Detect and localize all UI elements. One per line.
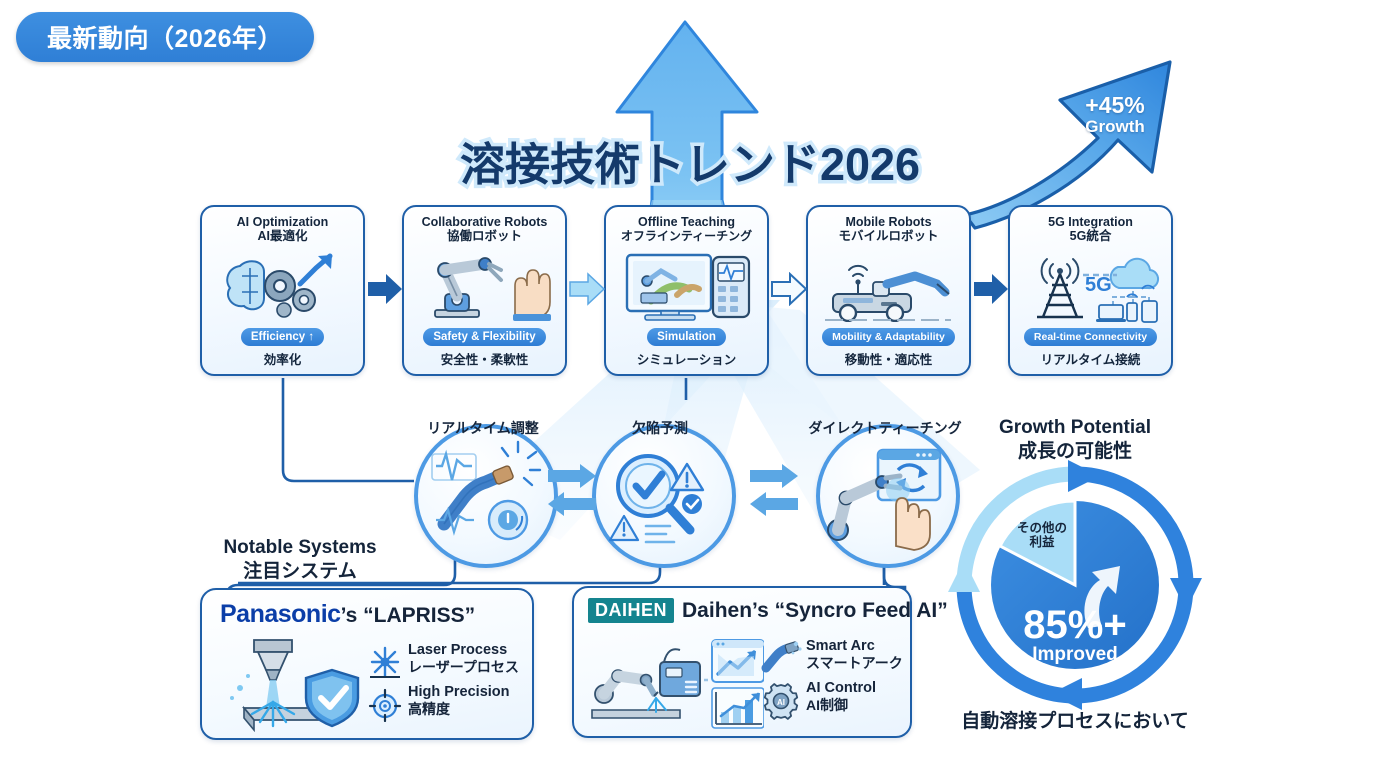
growth-arrow-value: +45% bbox=[1070, 92, 1160, 119]
card-caption: 安全性・柔軟性 bbox=[441, 349, 529, 368]
feature-title-jp: スマートアーク bbox=[806, 655, 903, 671]
capability-label-direct-teaching: ダイレクトティーチング bbox=[760, 418, 1010, 438]
card-title-en: Collaborative Robots bbox=[422, 215, 548, 229]
card-title-en: Mobile Robots bbox=[845, 215, 931, 229]
capability-circle-direct-teaching[interactable] bbox=[816, 424, 960, 568]
growth-arrow-caption: Growth bbox=[1070, 117, 1160, 137]
card-title-en: Offline Teaching bbox=[638, 215, 735, 229]
mobile-robot-icon bbox=[808, 244, 969, 328]
pipeline-card-offline-teaching[interactable]: Offline Teaching オフラインティーチング bbox=[604, 205, 769, 376]
pipeline-card-mobile-robots[interactable]: Mobile Robots モバイルロボット Mobili bbox=[806, 205, 971, 376]
card-caption: シミュレーション bbox=[637, 349, 737, 368]
card-pill: Real-time Connectivity bbox=[1024, 328, 1157, 346]
brain-gear-icon bbox=[202, 244, 363, 328]
flow-arrow-4 bbox=[972, 272, 1010, 306]
card-pill: Efficiency ↑ bbox=[241, 328, 324, 346]
system-card-panasonic[interactable]: Panasonic’s “LAPRISS” Laser Proces bbox=[200, 588, 534, 740]
card-title-jp: オフラインティーチング bbox=[621, 229, 752, 243]
daihen-feature-2: AI Control AI制御 bbox=[806, 680, 876, 713]
infographic-canvas: +45% Growth 最新動向（2026年） AI Optimization … bbox=[0, 0, 1376, 768]
feature-title-jp: レーザープロセス bbox=[408, 659, 519, 675]
magnifier-check-warning-icon bbox=[596, 428, 724, 556]
page-title: 溶接技術トレンド2026 bbox=[440, 128, 940, 193]
card-title-jp: AI最適化 bbox=[257, 229, 307, 244]
growth-donut-chart[interactable]: 85%+ Improved bbox=[940, 460, 1210, 710]
card-title-jp: 協働ロボット bbox=[447, 229, 522, 244]
arc-torch-icon bbox=[760, 640, 802, 674]
card-title-jp: モバイルロボット bbox=[838, 229, 938, 244]
welder-robot-charts-icon bbox=[584, 636, 764, 730]
donut-sub: Improved bbox=[1032, 644, 1118, 665]
daihen-logo: DAIHEN bbox=[588, 598, 674, 623]
daihen-product: Daihen’s “Syncro Feed AI” bbox=[682, 599, 948, 623]
feature-title-jp: AI制御 bbox=[806, 697, 876, 713]
monitor-pendant-icon bbox=[606, 243, 767, 328]
robot-arm-hand-icon bbox=[404, 244, 565, 328]
bidirectional-arrow-2 bbox=[748, 462, 800, 524]
gear-ai-icon: AI bbox=[760, 682, 802, 720]
welding-torch-waveform-icon bbox=[418, 428, 546, 556]
panasonic-logo: Panasonic bbox=[220, 600, 341, 628]
robot-touch-screen-icon bbox=[820, 428, 948, 556]
5g-tower-cloud-icon: 5G bbox=[1010, 244, 1171, 328]
svg-text:AI: AI bbox=[777, 698, 785, 707]
card-caption: リアルタイム接続 bbox=[1041, 349, 1141, 368]
donut-slice-label: その他の 利益 bbox=[1000, 521, 1084, 550]
panasonic-product: ’s “LAPRISS” bbox=[341, 604, 476, 627]
laser-burst-icon bbox=[368, 646, 402, 680]
card-caption: 移動性・適応性 bbox=[845, 349, 933, 368]
bidirectional-arrow-1 bbox=[546, 462, 598, 524]
card-pill: Simulation bbox=[647, 328, 726, 346]
feature-title-en: High Precision bbox=[408, 684, 510, 701]
feature-title-en: AI Control bbox=[806, 680, 876, 697]
card-pill: Mobility & Adaptability bbox=[822, 328, 955, 346]
pipeline-card-collaborative-robots[interactable]: Collaborative Robots 協働ロボット Safety & Fle… bbox=[402, 205, 567, 376]
panasonic-feature-2: High Precision 高精度 bbox=[408, 684, 510, 717]
slice-label-line1: その他の bbox=[1000, 521, 1084, 535]
slice-label-line2: 利益 bbox=[1000, 535, 1084, 549]
donut-value: 85%+ bbox=[1023, 603, 1126, 647]
card-pill: Safety & Flexibility bbox=[423, 328, 545, 346]
daihen-feature-1: Smart Arc スマートアーク bbox=[806, 638, 903, 671]
flow-arrow-2 bbox=[568, 272, 606, 306]
laser-head-shield-icon bbox=[218, 636, 368, 732]
svg-text:5G: 5G bbox=[1085, 274, 1112, 296]
pipeline-card-5g-integration[interactable]: 5G Integration 5G統合 5G bbox=[1008, 205, 1173, 376]
card-title-en: 5G Integration bbox=[1048, 215, 1133, 229]
card-caption: 効率化 bbox=[264, 349, 302, 368]
pipeline-card-ai-optimization[interactable]: AI Optimization AI最適化 Efficiency ↑ 効率化 bbox=[200, 205, 365, 376]
card-title-jp: 5G統合 bbox=[1070, 229, 1112, 244]
feature-title-en: Laser Process bbox=[408, 642, 519, 659]
capability-circle-realtime[interactable] bbox=[414, 424, 558, 568]
feature-title-jp: 高精度 bbox=[408, 701, 510, 717]
card-title-en: AI Optimization bbox=[237, 215, 329, 229]
capability-label-defect: 欠陥予測 bbox=[572, 418, 748, 438]
flow-arrow-3 bbox=[770, 272, 808, 306]
feature-title-en: Smart Arc bbox=[806, 638, 903, 655]
crosshair-target-icon bbox=[368, 688, 402, 722]
panasonic-feature-1: Laser Process レーザープロセス bbox=[408, 642, 519, 675]
system-card-daihen[interactable]: DAIHEN Daihen’s “Syncro Feed AI” bbox=[572, 586, 912, 738]
flow-arrow-1 bbox=[366, 272, 404, 306]
capability-circle-defect[interactable] bbox=[592, 424, 736, 568]
